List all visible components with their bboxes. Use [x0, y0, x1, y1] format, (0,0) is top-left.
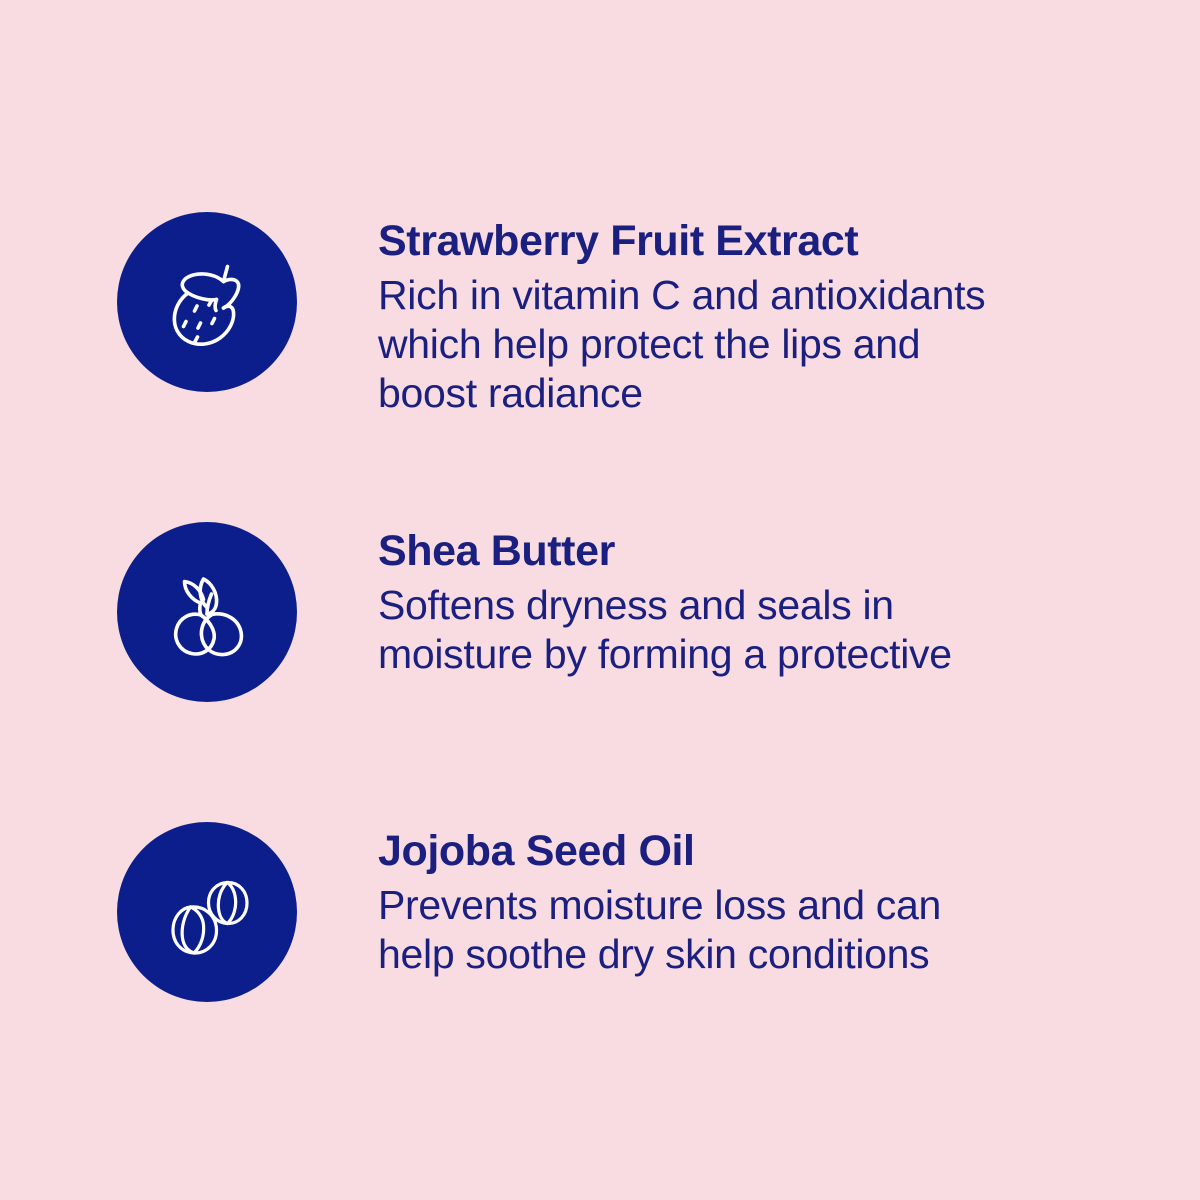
description-line: Prevents moisture loss and can	[378, 881, 1058, 930]
feature-description: Prevents moisture loss and can help soot…	[378, 881, 1058, 979]
description-line: boost radiance	[378, 369, 1078, 418]
feature-description: Softens dryness and seals in moisture by…	[378, 581, 1098, 679]
strawberry-icon	[153, 248, 261, 356]
feature-title: Shea Butter	[378, 526, 1098, 576]
feature-title: Strawberry Fruit Extract	[378, 216, 1078, 266]
strawberry-icon-badge	[117, 212, 297, 392]
feature-title: Jojoba Seed Oil	[378, 826, 1058, 876]
description-line: which help protect the lips and	[378, 320, 1078, 369]
shea-nut-icon	[153, 558, 261, 666]
feature-description: Rich in vitamin C and antioxidants which…	[378, 271, 1078, 418]
shea-nut-icon-badge	[117, 522, 297, 702]
jojoba-seed-icon-badge	[117, 822, 297, 1002]
description-line: moisture by forming a protective	[378, 630, 1098, 679]
feature-text-block: Shea Butter Softens dryness and seals in…	[378, 522, 1098, 679]
description-line: help soothe dry skin conditions	[378, 930, 1058, 979]
ingredient-benefits-panel: Strawberry Fruit Extract Rich in vitamin…	[0, 0, 1200, 1200]
feature-text-block: Strawberry Fruit Extract Rich in vitamin…	[378, 212, 1078, 418]
feature-text-block: Jojoba Seed Oil Prevents moisture loss a…	[378, 822, 1058, 979]
description-line: Rich in vitamin C and antioxidants	[378, 271, 1078, 320]
description-line: Softens dryness and seals in	[378, 581, 1098, 630]
feature-list: Strawberry Fruit Extract Rich in vitamin…	[0, 0, 1200, 1200]
list-item: Shea Butter Softens dryness and seals in…	[117, 522, 1098, 702]
list-item: Strawberry Fruit Extract Rich in vitamin…	[117, 212, 1078, 418]
list-item: Jojoba Seed Oil Prevents moisture loss a…	[117, 822, 1058, 1002]
jojoba-seed-icon	[153, 858, 261, 966]
